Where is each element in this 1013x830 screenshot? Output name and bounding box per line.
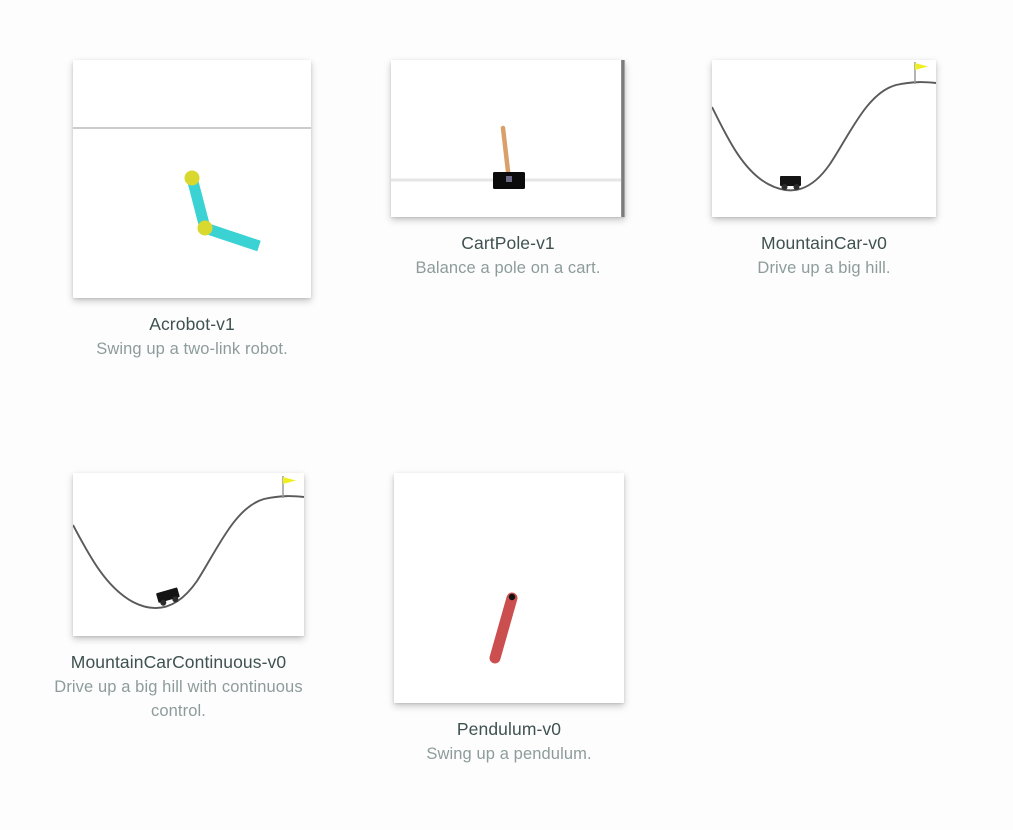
- cartpole-description: Balance a pole on a cart.: [391, 256, 625, 280]
- cartpole-title: CartPole-v1: [391, 231, 625, 255]
- mountaincar-caption: MountainCar-v0 Drive up a big hill.: [706, 231, 942, 280]
- acrobot-caption: Acrobot-v1 Swing up a two-link robot.: [73, 312, 311, 361]
- acrobot-title: Acrobot-v1: [73, 312, 311, 336]
- acrobot-joint-shoulder: [185, 171, 200, 186]
- mountaincarcontinuous-caption: MountainCarContinuous-v0 Drive up a big …: [43, 650, 315, 723]
- pendulum-render: [394, 473, 624, 703]
- cartpole-thumbnail[interactable]: [391, 60, 625, 217]
- mountaincar-title: MountainCar-v0: [706, 231, 942, 255]
- pendulum-caption: Pendulum-v0 Swing up a pendulum.: [409, 717, 609, 766]
- env-card-mountaincar[interactable]: MountainCar-v0 Drive up a big hill.: [712, 60, 936, 280]
- mountaincar-thumbnail[interactable]: [712, 60, 936, 217]
- acrobot-joint-elbow: [198, 221, 213, 236]
- mountaincar-car-wheel-rear: [782, 184, 788, 190]
- acrobot-render: [73, 60, 311, 298]
- cartpole-caption: CartPole-v1 Balance a pole on a cart.: [391, 231, 625, 280]
- pendulum-pivot: [509, 594, 515, 600]
- acrobot-description: Swing up a two-link robot.: [73, 337, 311, 361]
- mountaincarcontinuous-title: MountainCarContinuous-v0: [43, 650, 315, 674]
- mountaincarcontinuous-thumbnail[interactable]: [73, 473, 304, 636]
- environment-gallery: Acrobot-v1 Swing up a two-link robot. Ca…: [0, 0, 1013, 830]
- pendulum-description: Swing up a pendulum.: [409, 742, 609, 766]
- mountaincarcontinuous-render: [73, 473, 304, 636]
- env-card-acrobot[interactable]: Acrobot-v1 Swing up a two-link robot.: [73, 60, 311, 361]
- env-card-pendulum[interactable]: Pendulum-v0 Swing up a pendulum.: [394, 473, 624, 766]
- env-card-cartpole[interactable]: CartPole-v1 Balance a pole on a cart.: [391, 60, 625, 280]
- cartpole-axle: [506, 176, 512, 182]
- mountaincar-description: Drive up a big hill.: [706, 256, 942, 280]
- mountaincarcontinuous-description: Drive up a big hill with continuous cont…: [43, 675, 315, 723]
- mountaincar-car-wheel-front: [794, 184, 800, 190]
- cartpole-right-edge-bar: [621, 60, 625, 217]
- acrobot-thumbnail[interactable]: [73, 60, 311, 298]
- pendulum-title: Pendulum-v0: [409, 717, 609, 741]
- pendulum-thumbnail[interactable]: [394, 473, 624, 703]
- cartpole-render: [391, 60, 625, 217]
- env-card-mountaincarcontinuous[interactable]: MountainCarContinuous-v0 Drive up a big …: [73, 473, 304, 723]
- mountaincar-render: [712, 60, 936, 217]
